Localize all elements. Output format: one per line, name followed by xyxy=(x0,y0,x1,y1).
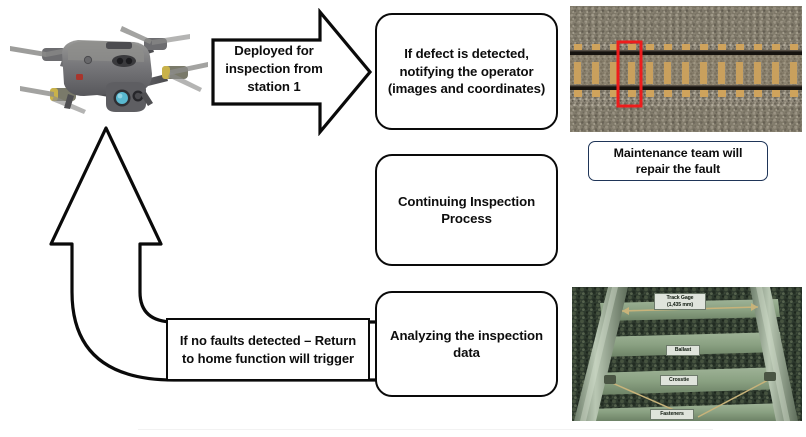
drone-illustration xyxy=(2,12,214,136)
photo-label-ballast: Ballast xyxy=(666,345,700,356)
return-label-line: to home function will trigger xyxy=(180,350,356,367)
box-line: (images and coordinates) xyxy=(388,80,545,97)
box-line: data xyxy=(390,344,543,361)
process-box-defect-detected[interactable]: If defect is detected, notifying the ope… xyxy=(375,13,558,130)
aerial-railway-track-photo xyxy=(570,6,802,132)
return-to-home-label-box: If no faults detected – Return to home f… xyxy=(166,318,370,381)
deployed-for-inspection-arrow-label: Deployed for inspection from station 1 xyxy=(213,42,335,97)
box-line: Continuing Inspection xyxy=(398,193,535,210)
process-box-analyzing-data[interactable]: Analyzing the inspection data xyxy=(375,291,558,397)
return-label-line: If no faults detected – Return xyxy=(180,332,356,349)
maintenance-team-callout[interactable]: Maintenance team will repair the fault xyxy=(588,141,768,181)
photo-label-crosstie: Crosstie xyxy=(660,375,698,386)
box-line: notifying the operator xyxy=(388,63,545,80)
photo-label-track-gage: Track Gage (1,435 mm) xyxy=(654,293,706,310)
photo-label-fasteners: Fasteners xyxy=(650,409,694,420)
callout-line: repair the fault xyxy=(614,161,743,177)
process-box-continuing-inspection[interactable]: Continuing Inspection Process xyxy=(375,154,558,266)
diagram-canvas: Deployed for inspection from station 1 I… xyxy=(0,0,806,437)
arrow-label-line: inspection from xyxy=(213,60,335,78)
callout-line: Maintenance team will xyxy=(614,145,743,161)
bottom-divider xyxy=(138,429,713,430)
box-line: Analyzing the inspection xyxy=(390,327,543,344)
railway-track-components-photo: Track Gage (1,435 mm) Ballast Crosstie F… xyxy=(572,287,802,421)
arrow-label-line: Deployed for xyxy=(213,42,335,60)
box-line: Process xyxy=(398,210,535,227)
arrow-label-line: station 1 xyxy=(213,78,335,96)
box-line: If defect is detected, xyxy=(388,45,545,62)
